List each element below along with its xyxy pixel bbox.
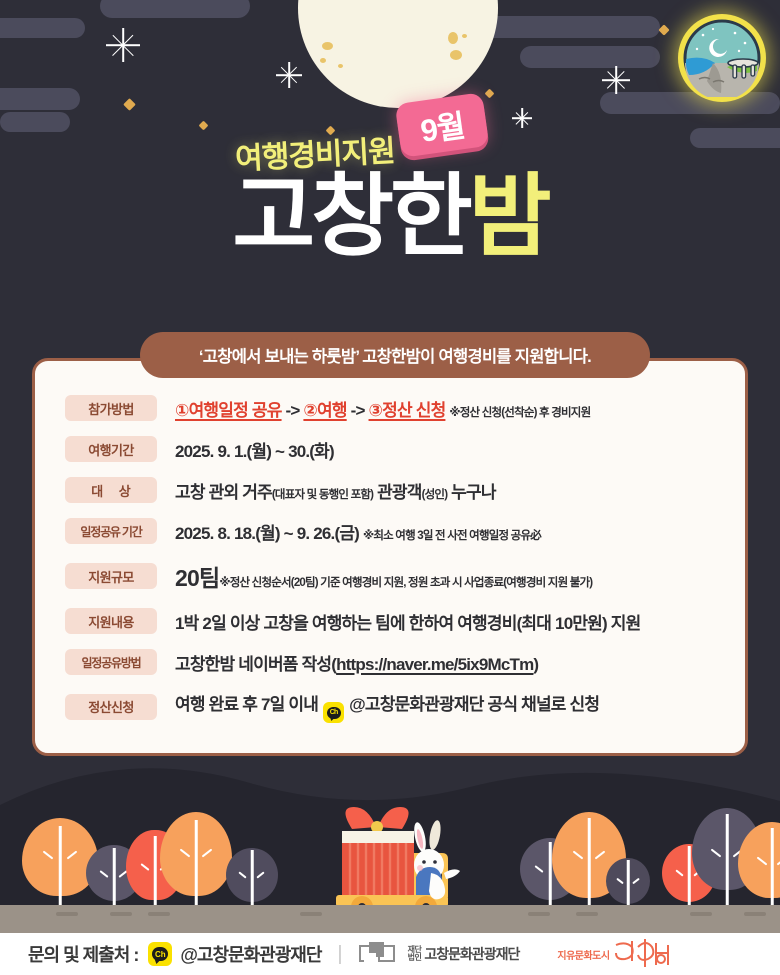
info-row-target: 대 상 고창 관외 거주(대표자 및 동행인 포함) 관광객(성인) 누구나: [65, 477, 727, 503]
info-row-support-content: 지원내용 1박 2일 이상 고창을 여행하는 팀에 한하여 여행경비(최대 10…: [65, 608, 727, 634]
target-main: 고창 관외 거주: [175, 483, 272, 502]
page-title: 고창한밤: [0, 170, 780, 265]
share-method-post: ): [533, 655, 538, 674]
cloud-bar: [520, 46, 660, 68]
row-note: ※최소 여행 3일 전 사전 여행일정 공유必: [363, 530, 541, 542]
tree: [738, 822, 780, 908]
kakao-handle: @고창문화관광재단: [180, 941, 321, 967]
step-3: ③정산 신청: [369, 401, 446, 420]
road-dash: [110, 912, 132, 916]
moon-crater: [448, 32, 458, 44]
footer-bar: 문의 및 제출처 : Ch @고창문화관광재단 | 재단 법인 고창문화관광재단…: [0, 933, 780, 975]
row-note: ※정산 신청(선착순) 후 경비지원: [449, 407, 590, 419]
moon-crater: [322, 42, 333, 50]
moon-crater: [450, 50, 462, 60]
cloud-bar: [100, 0, 250, 18]
info-row-participation: 참가방법 ①여행일정 공유 -> ②여행 -> ③정산 신청 ※정산 신청(선착…: [65, 395, 727, 421]
info-row-travel-period: 여행기간 2025. 9. 1.(월) ~ 30.(화): [65, 436, 727, 462]
kakao-channel-icon: Ch: [323, 702, 344, 723]
foundation-logo-icon: [359, 941, 403, 967]
title-block: 여행경비지원 고창한밤: [0, 130, 780, 265]
row-label: 참가방법: [65, 395, 157, 421]
diamond-star: [199, 121, 209, 131]
arrow-2: ->: [347, 401, 369, 420]
info-row-share-method: 일정공유방법 고창한밤 네이버폼 작성(https://naver.me/5ix…: [65, 649, 727, 675]
cloud-bar: [0, 112, 70, 132]
tree: [606, 858, 650, 908]
road-dash: [744, 912, 766, 916]
row-note: ※정산 신청순서(20팀) 기준 여행경비 지원, 정원 초과 시 사업종료(여…: [219, 577, 592, 589]
row-value: 2025. 8. 18.(월) ~ 9. 26.(금) ※최소 여행 3일 전 …: [175, 519, 541, 544]
road-dash: [690, 912, 712, 916]
sparkle-star: [602, 66, 630, 94]
cloud-bar: [480, 16, 660, 38]
row-value: 20팀※정산 신청순서(20팀) 기준 여행경비 지원, 정원 초과 시 사업종…: [175, 559, 592, 593]
road-dash: [528, 912, 550, 916]
info-row-share-period: 일정공유 기간 2025. 8. 18.(월) ~ 9. 26.(금) ※최소 …: [65, 518, 727, 544]
row-value: 고창한밤 네이버폼 작성(https://naver.me/5ix9McTm): [175, 650, 538, 675]
ground-road: [0, 905, 780, 933]
settlement-pre: 여행 완료 후 7일 이내: [175, 695, 318, 714]
foundation-prefix-line2: 법인: [408, 953, 422, 962]
cloud-bar: [0, 88, 80, 110]
tree: [226, 848, 278, 908]
target-main-3: 누구나: [447, 483, 495, 502]
subtitle-banner: ‘고창에서 보내는 하룻밤’ 고창한밤이 여행경비를 지원합니다.: [140, 332, 650, 378]
foundation-prefix: 재단 법인: [408, 946, 422, 963]
road-dash: [300, 912, 322, 916]
title-part-1: 고창한: [232, 167, 468, 267]
target-small-2: (성인): [422, 489, 448, 501]
scale-value: 20팀: [175, 565, 219, 591]
row-value: 여행 완료 후 7일 이내Ch@고창문화관광재단 공식 채널로 신청: [175, 690, 599, 723]
gochang-night-emblem-icon: [678, 14, 766, 102]
target-main-2: 관광객: [373, 483, 421, 502]
gochang-city-logo-icon: [612, 939, 674, 969]
info-panel: 참가방법 ①여행일정 공유 -> ②여행 -> ③정산 신청 ※정산 신청(선착…: [32, 358, 748, 756]
step-2: ②여행: [303, 401, 346, 420]
moon-crater: [338, 64, 343, 68]
moon-crater: [462, 34, 467, 38]
row-label: 일정공유방법: [65, 649, 157, 675]
sparkle-star: [276, 62, 302, 88]
moon: [298, 0, 498, 108]
row-value: 고창 관외 거주(대표자 및 동행인 포함) 관광객(성인) 누구나: [175, 478, 496, 503]
diamond-star: [658, 24, 669, 35]
road-dash: [576, 912, 598, 916]
gift-truck-with-rabbit-illustration: [328, 803, 488, 915]
kakao-channel-icon: Ch: [148, 942, 172, 966]
info-row-support-scale: 지원규모 20팀※정산 신청순서(20팀) 기준 여행경비 지원, 정원 초과 …: [65, 559, 727, 593]
row-label: 지원규모: [65, 563, 157, 589]
step-1: ①여행일정 공유: [175, 401, 282, 420]
diamond-star: [485, 89, 495, 99]
info-row-settlement: 정산신청 여행 완료 후 7일 이내Ch@고창문화관광재단 공식 채널로 신청: [65, 690, 727, 723]
row-label: 여행기간: [65, 436, 157, 462]
tree: [160, 812, 232, 908]
arrow-1: ->: [282, 401, 304, 420]
diamond-star: [123, 98, 136, 111]
target-small-1: (대표자 및 동행인 포함): [272, 489, 373, 501]
row-label: 지원내용: [65, 608, 157, 634]
row-value: 1박 2일 이상 고창을 여행하는 팀에 한하여 여행경비(최대 10만원) 지…: [175, 609, 641, 634]
sparkle-star: [106, 28, 140, 62]
row-label: 일정공유 기간: [65, 518, 157, 544]
row-label: 대 상: [65, 477, 157, 503]
settlement-post: @고창문화관광재단 공식 채널로 신청: [349, 695, 599, 714]
city-slogan: 지유문화도시: [557, 947, 609, 962]
foundation-name: 고창문화관광재단: [424, 944, 519, 964]
moon-crater: [320, 58, 326, 63]
contact-label: 문의 및 제출처 :: [28, 941, 138, 967]
super-title: 여행경비지원: [234, 126, 396, 178]
road-dash: [56, 912, 78, 916]
row-value: ①여행일정 공유 -> ②여행 -> ③정산 신청 ※정산 신청(선착순) 후 …: [175, 396, 590, 421]
row-label: 정산신청: [65, 694, 157, 720]
naver-form-link[interactable]: https://naver.me/5ix9McTm: [336, 655, 533, 674]
road-dash: [148, 912, 170, 916]
footer-divider: |: [337, 943, 342, 966]
title-part-2: 밤: [469, 167, 548, 267]
share-period-value: 2025. 8. 18.(월) ~ 9. 26.(금): [175, 524, 359, 543]
sparkle-star: [512, 108, 532, 128]
row-value: 2025. 9. 1.(월) ~ 30.(화): [175, 437, 334, 462]
cloud-bar: [0, 18, 85, 38]
share-method-pre: 고창한밤 네이버폼 작성(: [175, 655, 336, 674]
